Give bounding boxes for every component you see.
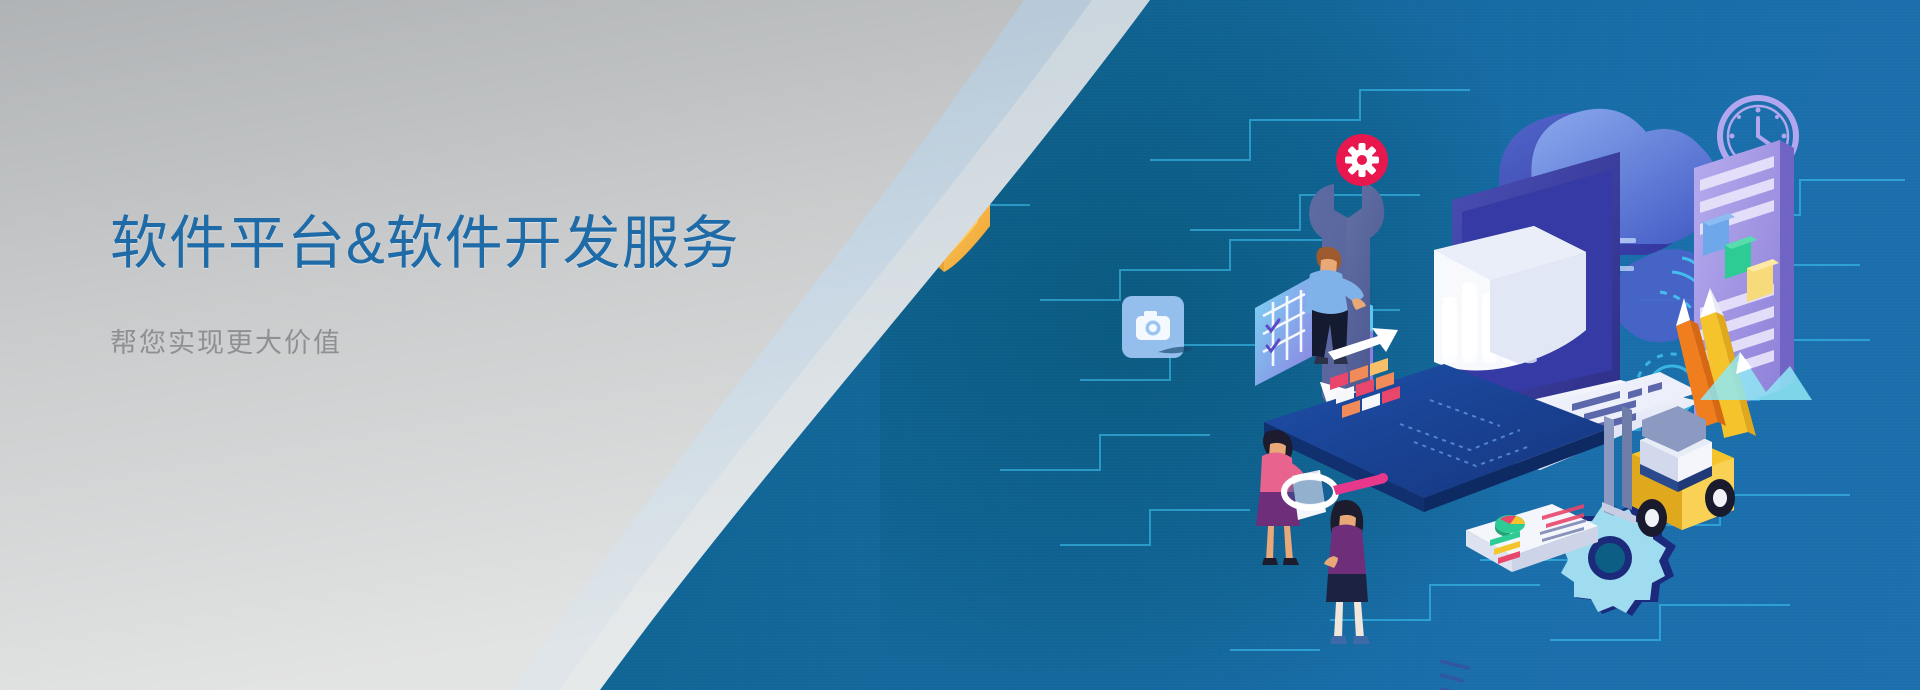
hero-text-block: 软件平台&软件开发服务 帮您实现更大价值 [110,212,740,360]
page-title: 软件平台&软件开发服务 [110,212,740,277]
hero-banner: 软件平台&软件开发服务 帮您实现更大价值 [0,0,1920,690]
gear-badge-icon [1336,134,1388,186]
printout-icon [1434,0,1586,690]
person-inspector [1324,500,1370,644]
page-subtitle: 帮您实现更大价值 [110,321,740,360]
